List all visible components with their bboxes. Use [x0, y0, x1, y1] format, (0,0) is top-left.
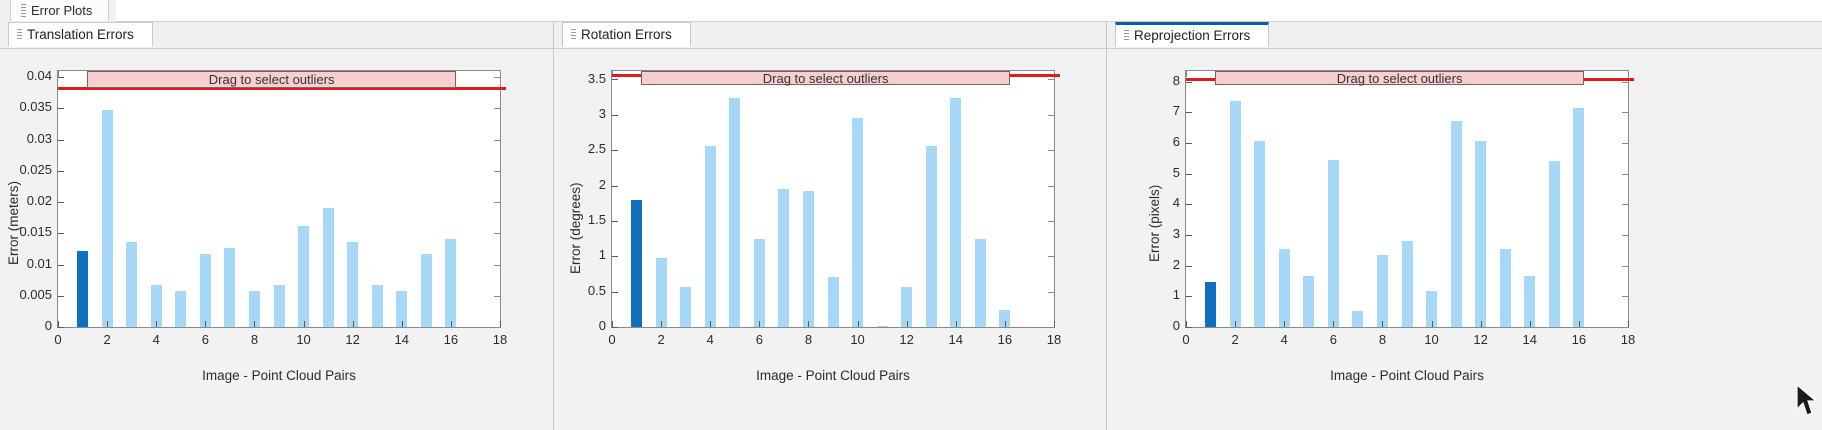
x-tick-label: 18 [1608, 332, 1648, 347]
bar[interactable] [852, 118, 863, 327]
y-tick-right [1622, 235, 1628, 236]
drag-grip-icon[interactable] [571, 29, 576, 41]
x-tick [661, 321, 662, 327]
bar[interactable] [877, 326, 888, 327]
x-tick [1530, 321, 1531, 327]
y-tick-right [494, 202, 500, 203]
y-tick-right [1622, 112, 1628, 113]
bar[interactable] [421, 254, 432, 327]
x-tick [1054, 321, 1055, 327]
y-tick-label: 1.5 [558, 212, 606, 227]
panel-translation-errors: Translation Errors Error (meters) 00.005… [0, 22, 553, 430]
bar[interactable] [778, 189, 789, 327]
x-tick-label: 8 [234, 332, 274, 347]
x-tick [156, 321, 157, 327]
y-tick-label: 0.005 [4, 287, 52, 302]
bar[interactable] [656, 258, 667, 327]
x-tick-label: 2 [87, 332, 127, 347]
x-tick [1579, 321, 1580, 327]
x-axis-label: Image - Point Cloud Pairs [611, 368, 1055, 383]
panel-rotation-errors: Rotation Errors Error (degrees) 00.511.5… [553, 22, 1106, 430]
bar[interactable] [372, 285, 383, 327]
drag-grip-icon[interactable] [21, 4, 26, 17]
x-tick [1432, 321, 1433, 327]
y-tick-label: 6 [1132, 134, 1180, 149]
y-tick-label: 4 [1132, 195, 1180, 210]
y-tick-label: 3 [558, 106, 606, 121]
x-tick [1628, 321, 1629, 327]
y-tick-label: 0.03 [4, 131, 52, 146]
bar[interactable] [926, 146, 937, 327]
bar[interactable] [1205, 282, 1216, 327]
x-tick-label: 12 [333, 332, 373, 347]
bar[interactable] [126, 242, 137, 327]
x-tick [254, 321, 255, 327]
bar[interactable] [1377, 255, 1388, 327]
bar[interactable] [1328, 160, 1339, 327]
x-tick [353, 321, 354, 327]
bar[interactable] [1475, 141, 1486, 327]
y-tick [1186, 82, 1192, 83]
y-tick [612, 79, 618, 80]
y-tick-right [1048, 186, 1054, 187]
y-tick [612, 292, 618, 293]
x-tick-label: 0 [1166, 332, 1206, 347]
x-tick-label: 10 [1412, 332, 1452, 347]
bar[interactable] [729, 98, 740, 327]
y-tick-right [1622, 296, 1628, 297]
bar[interactable] [274, 285, 285, 327]
bar[interactable] [1254, 141, 1265, 327]
y-tick-right [494, 296, 500, 297]
bar[interactable] [1524, 276, 1535, 328]
x-tick-label: 10 [284, 332, 324, 347]
drag-band-label: Drag to select outliers [763, 71, 889, 86]
x-tick-label: 0 [38, 332, 78, 347]
tab-label: Rotation Errors [581, 27, 672, 42]
x-tick [907, 321, 908, 327]
y-tick [1186, 235, 1192, 236]
y-tick [612, 115, 618, 116]
y-tick-label: 3.5 [558, 71, 606, 86]
y-tick-label: 1 [558, 247, 606, 262]
y-tick [612, 150, 618, 151]
bar[interactable] [1352, 311, 1363, 327]
x-tick [205, 321, 206, 327]
y-tick-right [1622, 204, 1628, 205]
y-tick [58, 233, 64, 234]
error-plots-window: Error Plots Translation Errors Error (me… [0, 0, 1822, 430]
y-tick-right [494, 233, 500, 234]
y-tick-label: 0.02 [4, 193, 52, 208]
bar[interactable] [828, 277, 839, 327]
bar[interactable] [803, 191, 814, 327]
bar[interactable] [323, 208, 334, 327]
x-tick [451, 321, 452, 327]
y-tick [58, 265, 64, 266]
x-tick-label: 4 [1264, 332, 1304, 347]
x-tick-label: 0 [592, 332, 632, 347]
x-tick-top [500, 71, 501, 77]
x-tick [1333, 321, 1334, 327]
document-tabstrip: Error Plots [0, 0, 1822, 23]
drag-band-label: Drag to select outliers [209, 72, 335, 87]
x-tick-label: 6 [185, 332, 225, 347]
y-tick-label: 3 [1132, 226, 1180, 241]
drag-to-select-outliers-band[interactable]: Drag to select outliers [87, 71, 455, 88]
y-tick [1186, 266, 1192, 267]
x-tick-label: 2 [641, 332, 681, 347]
x-tick-label: 8 [788, 332, 828, 347]
x-tick [1382, 321, 1383, 327]
x-tick [1235, 321, 1236, 327]
x-tick-label: 18 [480, 332, 520, 347]
y-tick-label: 2 [558, 177, 606, 192]
bar[interactable] [175, 291, 186, 327]
x-tick-label: 10 [838, 332, 878, 347]
y-tick-label: 0.025 [4, 162, 52, 177]
y-tick [58, 202, 64, 203]
bar[interactable] [347, 242, 358, 327]
x-tick-label: 12 [1461, 332, 1501, 347]
bar[interactable] [200, 254, 211, 327]
panel-tabbar-rotation: Rotation Errors [554, 22, 1106, 49]
x-tick-label: 8 [1362, 332, 1402, 347]
y-tick-label: 0.015 [4, 224, 52, 239]
y-tick [58, 108, 64, 109]
y-tick [1186, 112, 1192, 113]
y-tick-label: 0.5 [558, 283, 606, 298]
y-tick [1186, 204, 1192, 205]
y-tick-right [1622, 266, 1628, 267]
y-tick-right [1048, 256, 1054, 257]
x-tick [808, 321, 809, 327]
x-tick-label: 2 [1215, 332, 1255, 347]
panel-reprojection-errors: Reprojection Errors Error (pixels) 01234… [1106, 22, 1822, 430]
bar[interactable] [754, 239, 765, 327]
y-tick [612, 327, 618, 328]
tab-reprojection-errors[interactable]: Reprojection Errors [1115, 22, 1269, 47]
x-tick [858, 321, 859, 327]
x-axis-label: Image - Point Cloud Pairs [57, 368, 501, 383]
y-tick [58, 296, 64, 297]
y-tick [1186, 296, 1192, 297]
document-tab-label: Error Plots [31, 3, 92, 18]
y-tick-label: 0.04 [4, 68, 52, 83]
axes-reprojection[interactable]: 012345678024681012141618Drag to select o… [1185, 70, 1629, 328]
x-axis-label: Image - Point Cloud Pairs [1185, 368, 1629, 383]
drag-to-select-outliers-band[interactable]: Drag to select outliers [1215, 71, 1583, 85]
y-axis-label: Error (degrees) [568, 128, 583, 328]
plot-translation-errors: Error (meters) 00.0050.010.0150.020.0250… [0, 48, 553, 430]
tab-rotation-errors[interactable]: Rotation Errors [562, 22, 691, 47]
bar[interactable] [1451, 121, 1462, 327]
y-tick-right [494, 140, 500, 141]
x-tick-label: 4 [136, 332, 176, 347]
y-tick [58, 140, 64, 141]
x-tick-label: 12 [887, 332, 927, 347]
y-tick-right [494, 327, 500, 328]
x-tick [1284, 321, 1285, 327]
bar[interactable] [1230, 101, 1241, 327]
y-tick [612, 186, 618, 187]
y-tick-right [1622, 174, 1628, 175]
x-tick [402, 321, 403, 327]
y-tick [58, 171, 64, 172]
x-tick-label: 16 [1559, 332, 1599, 347]
y-tick [1186, 143, 1192, 144]
y-tick [612, 256, 618, 257]
bar[interactable] [631, 200, 642, 327]
x-tick [1481, 321, 1482, 327]
bar[interactable] [950, 98, 961, 327]
panel-tabbar-reprojection: Reprojection Errors [1107, 22, 1822, 49]
y-tick [612, 221, 618, 222]
y-tick [1186, 174, 1192, 175]
x-tick-label: 6 [1313, 332, 1353, 347]
y-tick-right [1048, 115, 1054, 116]
y-tick [58, 327, 64, 328]
y-tick-label: 0.01 [4, 256, 52, 271]
y-tick-label: 5 [1132, 165, 1180, 180]
plot-reprojection-errors: Error (pixels) 012345678024681012141618D… [1107, 48, 1822, 430]
y-tick-label: 0 [558, 318, 606, 333]
y-tick-right [494, 108, 500, 109]
bar[interactable] [680, 287, 691, 327]
x-tick [304, 321, 305, 327]
y-tick-label: 2 [1132, 257, 1180, 272]
x-tick-label: 14 [382, 332, 422, 347]
drag-grip-icon[interactable] [17, 29, 22, 41]
x-tick-label: 14 [936, 332, 976, 347]
plot-rotation-errors: Error (degrees) 00.511.522.533.502468101… [554, 48, 1106, 430]
bar[interactable] [102, 110, 113, 327]
x-tick-label: 18 [1034, 332, 1074, 347]
bar[interactable] [224, 248, 235, 327]
document-tab-error-plots[interactable]: Error Plots [10, 0, 109, 21]
tab-label: Reprojection Errors [1134, 28, 1250, 43]
bar[interactable] [705, 146, 716, 327]
y-tick-right [494, 77, 500, 78]
y-tick-right [1048, 79, 1054, 80]
drag-band-label: Drag to select outliers [1337, 71, 1463, 86]
plots-container: Translation Errors Error (meters) 00.005… [0, 22, 1822, 430]
x-tick [1186, 321, 1187, 327]
bar[interactable] [1402, 241, 1413, 327]
bar[interactable] [298, 226, 309, 327]
y-tick-right [494, 265, 500, 266]
x-tick [759, 321, 760, 327]
x-tick-top [1628, 71, 1629, 77]
tab-label: Translation Errors [27, 27, 134, 42]
y-tick-right [494, 171, 500, 172]
bar[interactable] [445, 239, 456, 327]
y-tick-right [1622, 82, 1628, 83]
bar[interactable] [1500, 249, 1511, 327]
x-tick-label: 14 [1510, 332, 1550, 347]
y-tick-label: 0.035 [4, 99, 52, 114]
y-tick-label: 7 [1132, 103, 1180, 118]
y-tick-label: 0 [4, 318, 52, 333]
bar[interactable] [1279, 249, 1290, 327]
x-tick [710, 321, 711, 327]
x-tick-label: 16 [985, 332, 1025, 347]
bar[interactable] [975, 239, 986, 327]
x-tick [956, 321, 957, 327]
document-tabstrip-filler [116, 0, 1822, 22]
y-tick [1186, 327, 1192, 328]
y-tick-right [1048, 292, 1054, 293]
bar[interactable] [1303, 276, 1314, 328]
x-tick-label: 4 [690, 332, 730, 347]
bar[interactable] [1549, 161, 1560, 327]
y-tick-label: 2.5 [558, 141, 606, 156]
drag-grip-icon[interactable] [1124, 30, 1129, 42]
x-tick [58, 321, 59, 327]
x-tick [500, 321, 501, 327]
x-tick [107, 321, 108, 327]
y-tick [58, 77, 64, 78]
x-tick-label: 6 [739, 332, 779, 347]
x-tick-top [58, 71, 59, 77]
axes-rotation[interactable]: 00.511.522.533.5024681012141618Drag to s… [611, 70, 1055, 328]
tab-translation-errors[interactable]: Translation Errors [8, 22, 153, 47]
bar[interactable] [77, 251, 88, 327]
y-tick-label: 8 [1132, 73, 1180, 88]
y-tick-label: 1 [1132, 287, 1180, 302]
bar[interactable] [1573, 108, 1584, 327]
y-tick-right [1048, 150, 1054, 151]
x-tick [1005, 321, 1006, 327]
axes-translation[interactable]: 00.0050.010.0150.020.0250.030.0350.04024… [57, 70, 501, 328]
x-tick-label: 16 [431, 332, 471, 347]
drag-to-select-outliers-band[interactable]: Drag to select outliers [641, 71, 1009, 85]
y-tick-right [1622, 327, 1628, 328]
y-tick-right [1622, 143, 1628, 144]
panel-tabbar-translation: Translation Errors [0, 22, 553, 49]
y-tick-label: 0 [1132, 318, 1180, 333]
x-tick [612, 321, 613, 327]
x-tick-top [1186, 71, 1187, 77]
y-tick-right [1048, 327, 1054, 328]
y-tick-right [1048, 221, 1054, 222]
